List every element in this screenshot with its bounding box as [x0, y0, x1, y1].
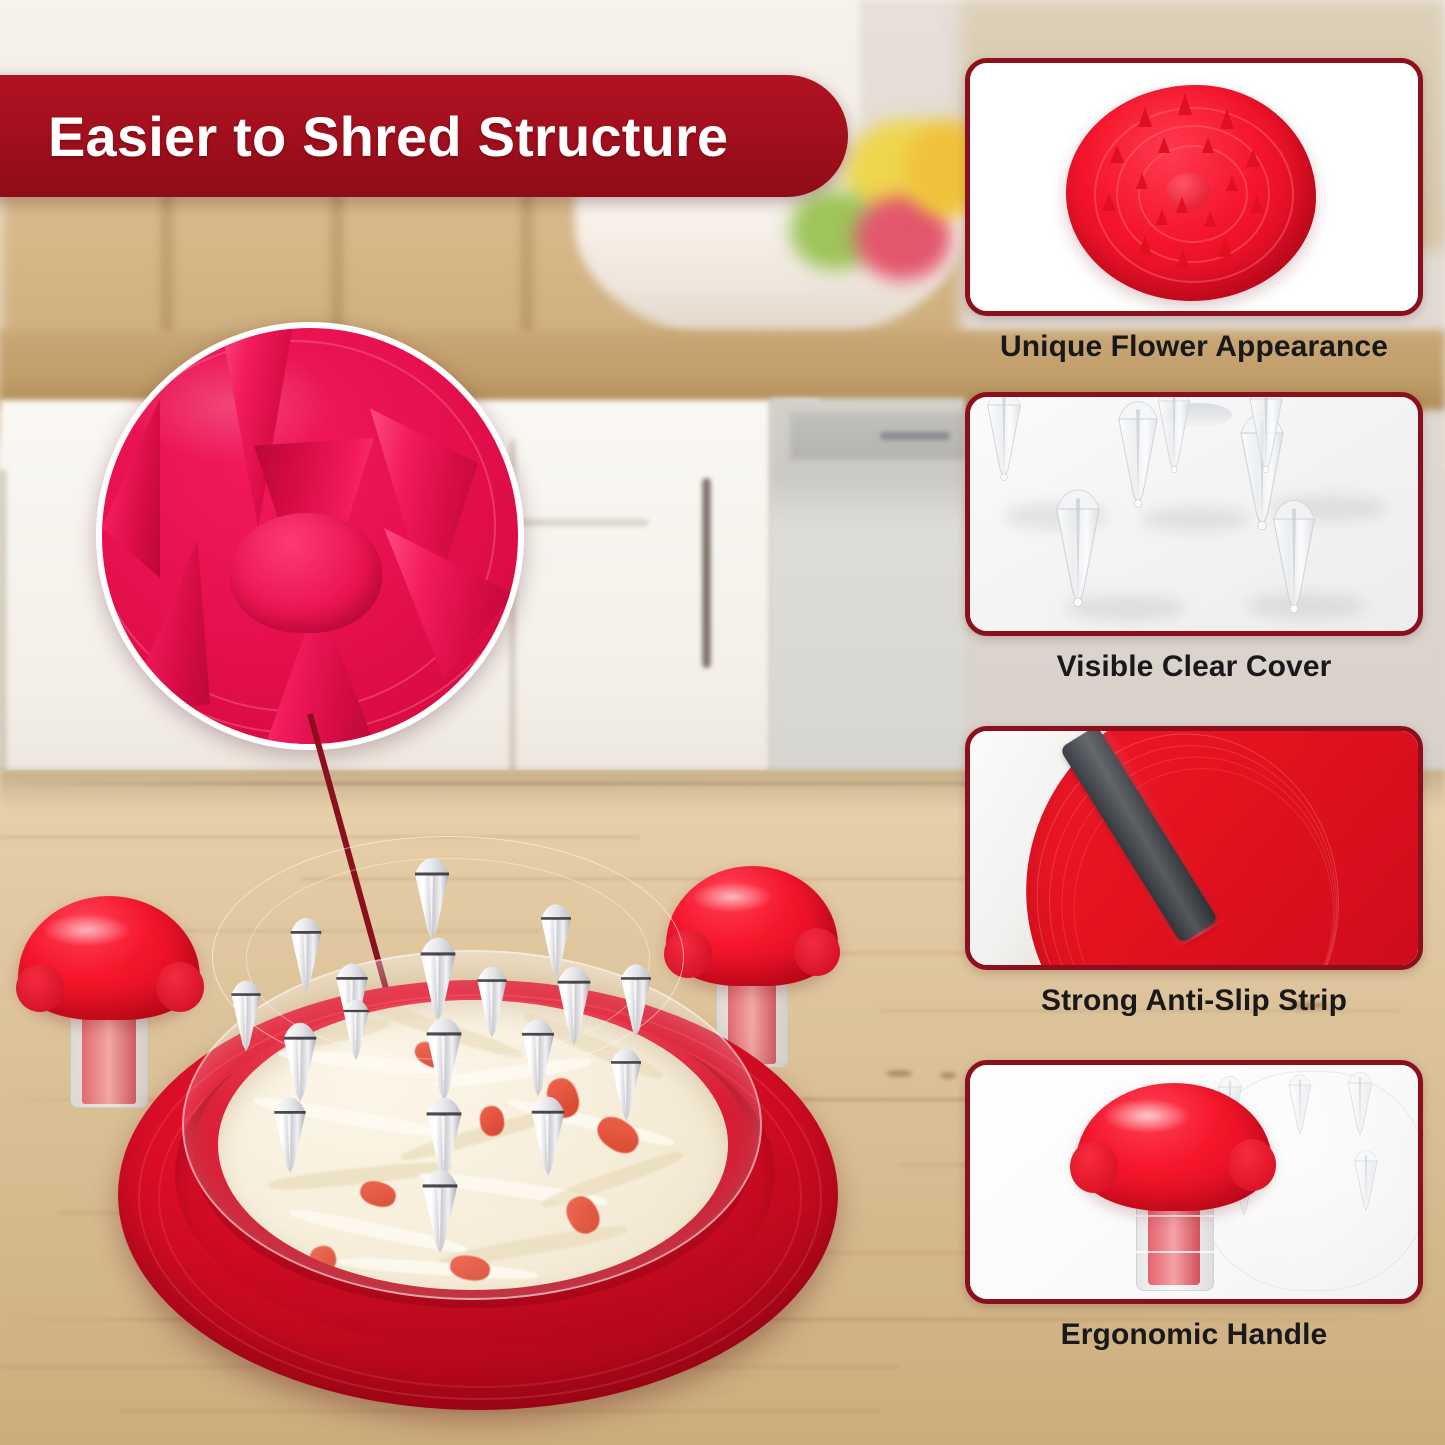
feature-image-clear-cover: [965, 392, 1423, 636]
infographic-canvas: Easier to Shred Structure: [0, 0, 1445, 1445]
background-cabinet-line: [0, 470, 6, 820]
feature-image-ergonomic-handle: [965, 1060, 1423, 1304]
feature-panel-unique-flower-appearance[interactable]: Unique Flower Appearance: [965, 58, 1423, 316]
page-title: Easier to Shred Structure: [48, 104, 728, 169]
feature-panel-ergonomic-handle[interactable]: Ergonomic Handle: [965, 1060, 1423, 1304]
product-chicken-shredder: [0, 830, 900, 1445]
background-cabinet-line: [508, 520, 648, 525]
feature-panel-strong-anti-slip-strip[interactable]: Strong Anti-Slip Strip: [965, 726, 1423, 970]
background-dishwasher-buttons: [880, 432, 950, 440]
shredder-cone-spikes: [0, 830, 900, 1445]
feature-label-ergonomic-handle: Ergonomic Handle: [965, 1318, 1423, 1352]
feature-panel-visible-clear-cover[interactable]: Visible Clear Cover: [965, 392, 1423, 636]
clear-cover-icon: [970, 397, 1418, 631]
feature-label-strong-anti-slip-strip: Strong Anti-Slip Strip: [965, 984, 1423, 1018]
title-banner: Easier to Shred Structure: [0, 75, 848, 197]
magnifier-closeup: [96, 322, 524, 750]
handle-gloss: [1104, 1099, 1190, 1133]
background-cabinet-handle: [702, 478, 711, 668]
background-dishwasher: [770, 398, 965, 828]
shred-center-hub: [230, 513, 382, 633]
feature-label-visible-clear-cover: Visible Clear Cover: [965, 650, 1423, 684]
feature-image-anti-slip-strip: [965, 726, 1423, 970]
feature-image-flower-lid: [965, 58, 1423, 316]
feature-label-unique-flower-appearance: Unique Flower Appearance: [965, 330, 1423, 364]
